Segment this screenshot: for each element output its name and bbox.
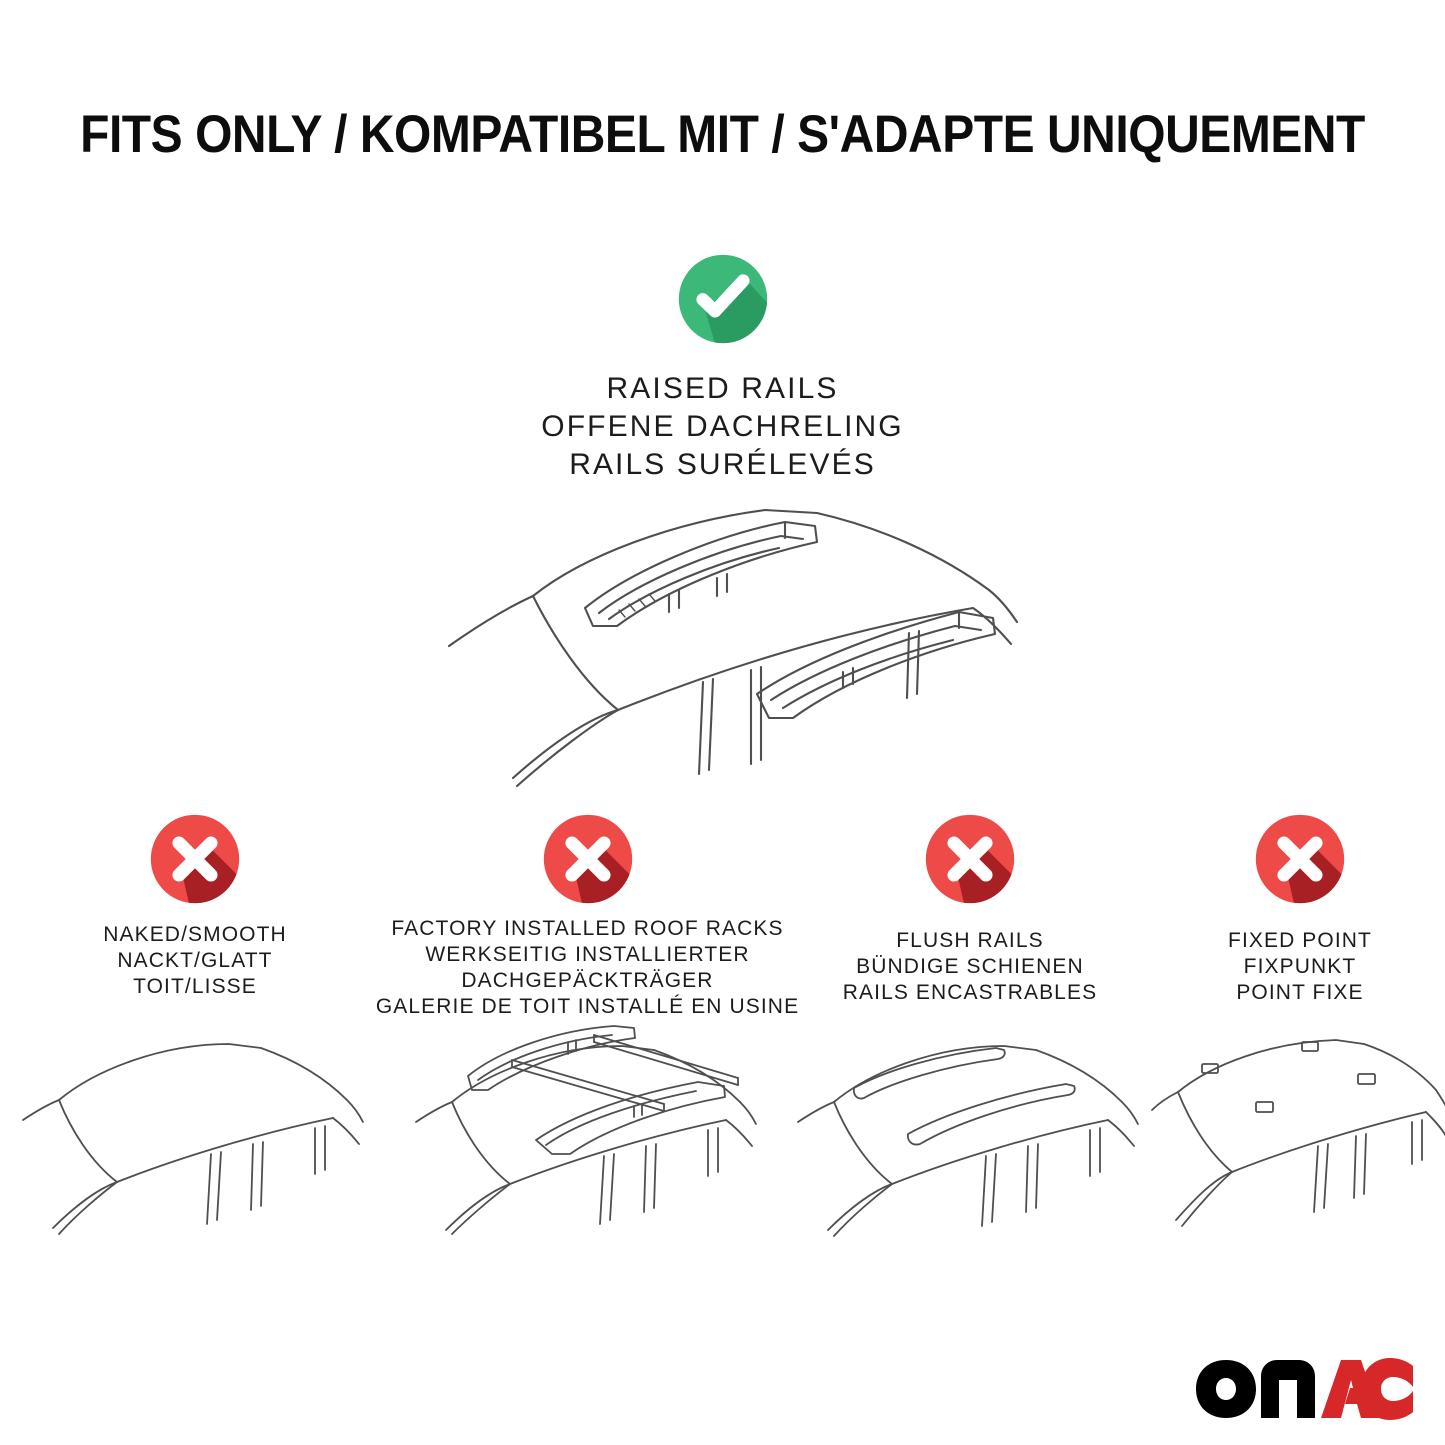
car-roof-factory-roof-racks-illustration [408, 1020, 768, 1235]
incompatible-label: NAKED/SMOOTH NACKT/GLATT TOIT/LISSE [103, 922, 287, 1000]
compatible-section: RAISED RAILS OFFENE DACHRELING RAILS SUR… [0, 252, 1445, 484]
page-title: FITS ONLY / KOMPATIBEL MIT / S'ADAPTE UN… [69, 104, 1377, 165]
car-roof-naked-smooth-illustration [15, 1022, 375, 1237]
incompatible-label-line-1: FLUSH RAILS [843, 928, 1097, 954]
cross-circle-icon [1253, 812, 1347, 906]
incompatible-label: FLUSH RAILS BÜNDIGE SCHIENEN RAILS ENCAS… [843, 928, 1097, 1006]
cross-circle-icon [541, 812, 635, 906]
incompatible-label: FIXED POINT FIXPUNKT POINT FIXE [1228, 928, 1372, 1006]
incompatible-label-line-3: DACHGEPÄCKTRÄGER [376, 968, 799, 994]
car-roof-flush-rails-illustration [790, 1026, 1150, 1241]
incompatible-label-line-1: FACTORY INSTALLED ROOF RACKS [376, 916, 799, 942]
incompatible-item-naked-smooth: NAKED/SMOOTH NACKT/GLATT TOIT/LISSE [0, 812, 390, 1237]
incompatible-label-line-1: NAKED/SMOOTH [103, 922, 287, 948]
compatible-label-line-3: RAILS SURÉLEVÉS [0, 446, 1445, 484]
incompatible-label-line-1: FIXED POINT [1228, 928, 1372, 954]
logo-letter-o [1196, 1360, 1256, 1418]
incompatible-label-line-2: WERKSEITIG INSTALLIERTER [376, 942, 799, 968]
compatible-label-line-1: RAISED RAILS [0, 370, 1445, 408]
cross-circle-icon [148, 812, 242, 906]
incompatible-label-line-2: FIXPUNKT [1228, 954, 1372, 980]
compatible-label-line-2: OFFENE DACHRELING [0, 408, 1445, 446]
logo-letter-m [1261, 1360, 1315, 1418]
incompatible-section: NAKED/SMOOTH NACKT/GLATT TOIT/LISSE [0, 812, 1445, 1241]
incompatible-item-flush-rails: FLUSH RAILS BÜNDIGE SCHIENEN RAILS ENCAS… [785, 812, 1155, 1241]
car-roof-raised-rails-illustration [413, 486, 1033, 796]
incompatible-label-line-2: BÜNDIGE SCHIENEN [843, 954, 1097, 980]
incompatible-label-line-3: POINT FIXE [1228, 980, 1372, 1006]
incompatible-label-line-2: NACKT/GLATT [103, 948, 287, 974]
incompatible-item-fixed-point: FIXED POINT FIXPUNKT POINT FIXE [1155, 812, 1445, 1241]
incompatible-item-factory-roof-racks: FACTORY INSTALLED ROOF RACKS WERKSEITIG … [390, 812, 785, 1235]
compatible-label: RAISED RAILS OFFENE DACHRELING RAILS SUR… [0, 370, 1445, 484]
incompatible-label-line-3: RAILS ENCASTRABLES [843, 980, 1097, 1006]
cross-circle-icon [923, 812, 1017, 906]
logo-letter-c [1361, 1358, 1413, 1420]
check-circle-icon [676, 252, 770, 346]
car-roof-fixed-point-illustration [1150, 1026, 1445, 1241]
incompatible-label: FACTORY INSTALLED ROOF RACKS WERKSEITIG … [376, 916, 799, 1020]
incompatible-label-line-4: GALERIE DE TOIT INSTALLÉ EN USINE [376, 994, 799, 1020]
incompatible-label-line-3: TOIT/LISSE [103, 974, 287, 1000]
omac-logo [1193, 1358, 1415, 1420]
